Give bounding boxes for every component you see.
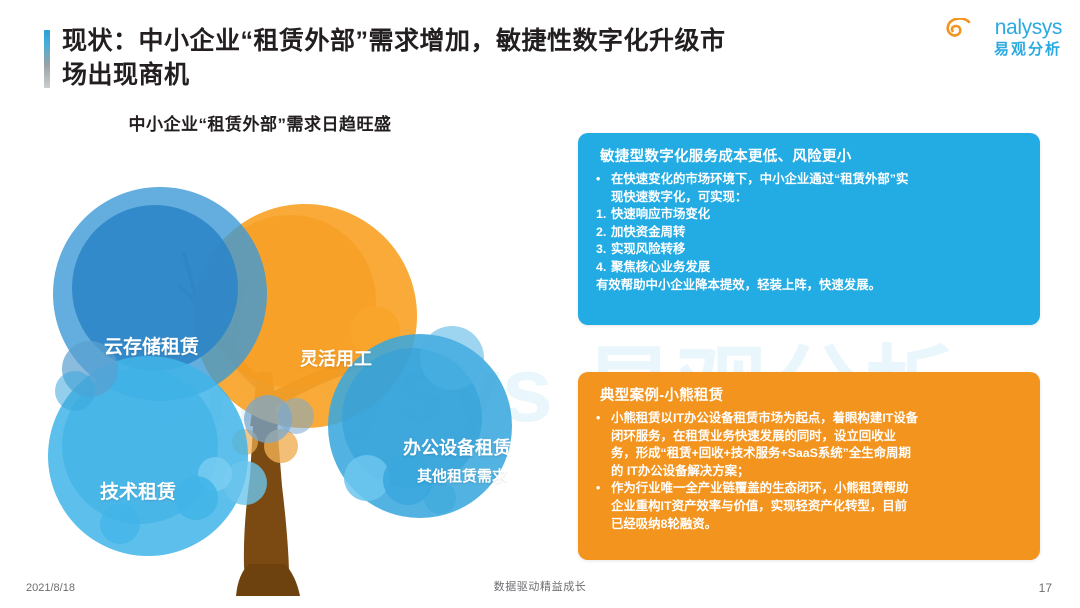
bullet-marker: •	[596, 410, 611, 480]
bullet-marker: 4.	[596, 259, 611, 277]
page-title: 现状：中小企业“租赁外部”需求增加，敏捷性数字化升级市 场出现商机	[44, 24, 924, 92]
foliage-circle-small-2	[55, 371, 95, 411]
bullet-text: 快速响应市场变化	[611, 206, 918, 224]
bullet-text: 加快资金周转	[611, 224, 918, 242]
analysys-logo: nalysys 易观分析	[944, 16, 1064, 74]
bullet-text: 小熊租赁以IT办公设备租赁市场为起点，着眼构建IT设备闭环服务，在租赁业务快速发…	[611, 410, 918, 480]
bullet-marker: •	[596, 171, 611, 206]
card-agile-line-3: 2. 加快资金周转	[596, 224, 918, 242]
card-agile-line-5: 4. 聚焦核心业务发展	[596, 259, 918, 277]
card-case-title: 典型案例-小熊租赁	[600, 384, 724, 405]
card-agile-line-4: 3. 实现风险转移	[596, 241, 918, 259]
bullet-text: 在快速变化的市场环境下，中小企业通过“租赁外部”实现快速数字化，可实现：	[611, 171, 918, 206]
bullet-marker: •	[596, 480, 611, 533]
card-agile-line-1: • 在快速变化的市场环境下，中小企业通过“租赁外部”实现快速数字化，可实现：	[596, 171, 918, 206]
card-case-body: • 小熊租赁以IT办公设备租赁市场为起点，着眼构建IT设备闭环服务，在租赁业务快…	[596, 410, 918, 533]
foliage-circle-small-12	[100, 504, 140, 544]
foliage-circle-small-11	[420, 326, 484, 390]
foliage-circle-small-10	[424, 482, 456, 514]
tree-diagram-panel: 中小企业“租赁外部”需求日趋旺盛 analysys 易观分析	[0, 100, 575, 600]
card-agile-line-2: 1. 快速响应市场变化	[596, 206, 918, 224]
bullet-text: 作为行业唯一全产业链覆盖的生态闭环，小熊租赁帮助企业重构IT资产效率与价值，实现…	[611, 480, 918, 533]
card-agile-line-6: 有效帮助中小企业降本提效，轻装上阵，快速发展。	[596, 277, 918, 295]
logo-chinese-name: 易观分析	[944, 40, 1064, 60]
card-case-line-2: • 作为行业唯一全产业链覆盖的生态闭环，小熊租赁帮助企业重构IT资产效率与价值，…	[596, 480, 918, 533]
tree-illustration	[0, 126, 575, 596]
footer-page-number: 17	[1039, 581, 1052, 595]
card-agile-title: 敏捷型数字化服务成本更低、风险更小	[600, 145, 852, 166]
footer-tagline: 数据驱动精益成长	[0, 578, 1080, 594]
bullet-marker: 2.	[596, 224, 611, 242]
bullet-marker: 1.	[596, 206, 611, 224]
title-accent-bar	[44, 30, 50, 88]
foliage-circle-small-7	[174, 476, 218, 520]
slide-header: 现状：中小企业“租赁外部”需求增加，敏捷性数字化升级市 场出现商机	[44, 24, 924, 92]
bullet-marker: 3.	[596, 241, 611, 259]
foliage-circle-small-4	[278, 398, 314, 434]
card-typical-case: 典型案例-小熊租赁 • 小熊租赁以IT办公设备租赁市场为起点，着眼构建IT设备闭…	[578, 372, 1040, 560]
card-case-line-1: • 小熊租赁以IT办公设备租赁市场为起点，着眼构建IT设备闭环服务，在租赁业务快…	[596, 410, 918, 480]
card-agile-body: • 在快速变化的市场环境下，中小企业通过“租赁外部”实现快速数字化，可实现： 1…	[596, 171, 918, 294]
card-agile-digital-service: 敏捷型数字化服务成本更低、风险更小 • 在快速变化的市场环境下，中小企业通过“租…	[578, 133, 1040, 325]
logo-swoosh-icon	[946, 18, 972, 40]
bullet-text: 实现风险转移	[611, 241, 918, 259]
bullet-text: 聚焦核心业务发展	[611, 259, 918, 277]
bullet-text: 有效帮助中小企业降本提效，轻装上阵，快速发展。	[596, 277, 918, 295]
